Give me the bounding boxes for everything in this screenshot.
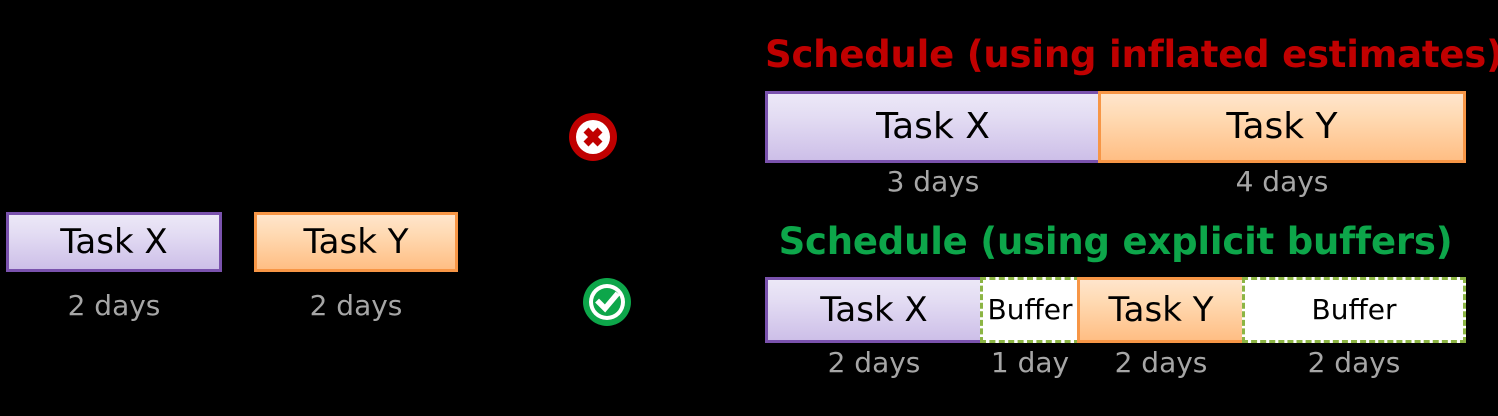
schedule-buffers-segment-task-y: Task Y (1077, 277, 1245, 343)
schedule-buffers-segment-buffer-1-label: Buffer (988, 296, 1073, 324)
schedule-buffers-segment-task-x-label: Task X (820, 293, 927, 327)
schedule-title-buffers: Schedule (using explicit buffers) (765, 223, 1466, 260)
schedule-buffers-durations: 2 days 1 day 2 days 2 days (765, 349, 1466, 383)
schedule-inflated-segment-task-y-label: Task Y (1226, 109, 1337, 145)
schedule-buffers-duration-task-y: 2 days (1077, 349, 1245, 377)
schedule-buffers-segment-buffer-2-label: Buffer (1312, 296, 1397, 324)
schedule-inflated-duration-task-x: 3 days (765, 168, 1101, 196)
schedule-buffers-segment-task-y-label: Task Y (1109, 293, 1214, 327)
schedule-buffers-duration-task-x: 2 days (765, 349, 983, 377)
schedule-bar-inflated: Task X Task Y (765, 91, 1466, 163)
schedule-buffers-segment-buffer-2: Buffer (1242, 277, 1466, 343)
estimate-duration-task-x: 2 days (6, 292, 222, 320)
schedule-inflated-segment-task-y: Task Y (1098, 91, 1466, 163)
estimate-box-task-x: Task X (6, 212, 222, 272)
check-circle-icon (581, 276, 633, 328)
schedule-inflated-segment-task-x-label: Task X (876, 109, 990, 145)
schedule-inflated-segment-task-x: Task X (765, 91, 1101, 163)
estimate-box-task-y-label: Task Y (304, 225, 409, 259)
schedule-inflated-durations: 3 days 4 days (765, 168, 1466, 202)
estimate-box-task-y: Task Y (254, 212, 458, 272)
schedule-title-inflated: Schedule (using inflated estimates) (765, 36, 1466, 73)
schedule-buffers-segment-task-x: Task X (765, 277, 983, 343)
schedule-buffers-duration-buffer-1: 1 day (980, 349, 1080, 377)
schedule-bar-buffers: Task X Buffer Task Y Buffer (765, 277, 1466, 343)
schedule-buffers-segment-buffer-1: Buffer (980, 277, 1080, 343)
schedule-buffers-duration-buffer-2: 2 days (1242, 349, 1466, 377)
estimate-box-task-x-label: Task X (60, 225, 167, 259)
estimate-duration-task-y: 2 days (254, 292, 458, 320)
schedule-inflated-duration-task-y: 4 days (1098, 168, 1466, 196)
x-circle-icon (567, 111, 619, 163)
